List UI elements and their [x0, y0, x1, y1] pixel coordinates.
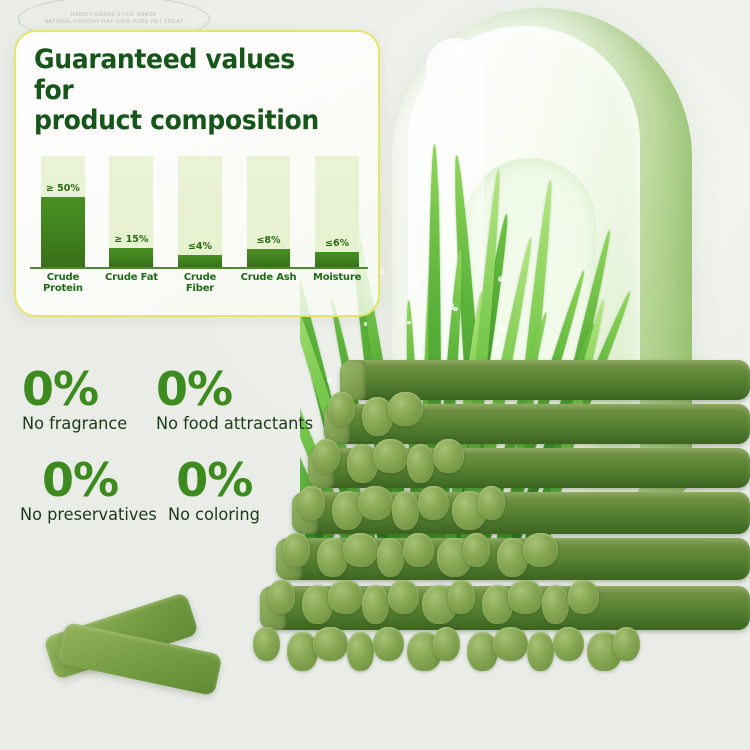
chart-axis-line — [30, 267, 368, 269]
chart-plot-area: ≥ 50%≥ 15%≤4%≤8%≤6% — [34, 154, 366, 267]
claim-label: No food attractants — [156, 415, 287, 434]
hay-stick-end — [508, 580, 543, 614]
hay-stick-end — [418, 486, 449, 520]
hay-stick-end — [613, 627, 640, 661]
chart-category-label: Crude Fiber — [171, 272, 229, 294]
product-infographic: RABBIT GRASS STICK SNACK NATURAL TIMOTHY… — [0, 0, 750, 750]
chart-column: ≥ 50% — [34, 154, 92, 267]
hay-stick-end — [523, 533, 558, 567]
hay-stick-end — [328, 392, 355, 426]
chart-bar-value: ≥ 15% — [109, 234, 153, 245]
chart-category-label: Crude Protein — [34, 272, 92, 294]
card-title-line-1: Guaranteed values for — [34, 45, 337, 106]
chart-bar-value: ≤4% — [178, 241, 222, 252]
hay-stick-end — [343, 533, 378, 567]
watermark-line-1: RABBIT GRASS STICK SNACK — [71, 12, 157, 20]
claim-value: 0% — [22, 368, 156, 412]
card-title-line-2: product composition — [34, 106, 337, 137]
claim-no-fragrance: 0% No fragrance — [22, 368, 156, 433]
watermark-line-2: NATURAL TIMOTHY HAY 100% PURE PET TREAT — [45, 19, 184, 27]
chart-column: ≤4% — [171, 154, 229, 267]
composition-bar-chart: ≥ 50%≥ 15%≤4%≤8%≤6% Crude ProteinCrude F… — [30, 154, 368, 306]
claim-value: 0% — [156, 368, 294, 412]
hay-stick-end — [358, 486, 393, 520]
claims-row-2: 0% No preservatives 0% No coloring — [22, 459, 294, 524]
claim-no-food-attractants: 0% No food attractants — [156, 368, 294, 433]
chart-category-label: Crude Fat — [103, 272, 161, 294]
chart-bar: ≤8% — [247, 249, 291, 267]
hay-stick-end — [403, 533, 434, 567]
claim-no-coloring: 0% No coloring — [168, 459, 294, 524]
card-title: Guaranteed values for product compositio… — [34, 45, 337, 137]
hay-stick-end — [313, 627, 348, 661]
chart-bar: ≤4% — [178, 255, 222, 267]
chart-bar-value: ≤8% — [247, 235, 291, 246]
claim-label: No fragrance — [22, 415, 149, 434]
hay-stick-end — [568, 580, 599, 614]
water-droplet — [498, 276, 504, 282]
chart-category-label: Moisture — [308, 272, 366, 294]
hay-stick-end — [478, 486, 505, 520]
hay-stick-end — [448, 580, 475, 614]
hay-stick-end — [388, 392, 423, 426]
chart-bar: ≥ 50% — [41, 197, 85, 267]
chart-category-label: Crude Ash — [240, 272, 298, 294]
hay-stick-end — [377, 538, 404, 577]
composition-card: Guaranteed values for product compositio… — [14, 30, 380, 317]
claim-value: 0% — [176, 459, 294, 503]
hay-stick-end — [433, 439, 464, 473]
hay-stick-stack — [236, 352, 750, 750]
hay-stick-end — [347, 632, 374, 671]
water-droplet — [500, 326, 507, 333]
water-droplet — [493, 339, 499, 345]
hay-stick-end — [373, 627, 404, 661]
water-droplet — [413, 279, 421, 287]
chart-bar: ≥ 15% — [109, 248, 153, 267]
hay-stick-end — [527, 632, 554, 671]
hay-stick-end — [407, 444, 434, 483]
hay-stick-end — [268, 580, 295, 614]
claim-no-preservatives: 0% No preservatives — [22, 459, 168, 524]
hay-stick-end — [253, 627, 280, 661]
chart-bar-value: ≥ 50% — [41, 183, 85, 194]
hay-stick-end — [392, 491, 419, 530]
hay-stick-end — [463, 533, 490, 567]
chart-bar-track — [315, 156, 359, 267]
hay-stick-end — [553, 627, 584, 661]
chart-column: ≤6% — [308, 154, 366, 267]
hay-stick-end — [433, 627, 460, 661]
zero-claims-block: 0% No fragrance 0% No food attractants 0… — [22, 368, 294, 525]
hay-stick-end — [542, 585, 569, 624]
hay-stick-end — [388, 580, 419, 614]
claims-row-1: 0% No fragrance 0% No food attractants — [22, 368, 294, 433]
water-droplet — [453, 307, 457, 311]
claim-label: No preservatives — [20, 506, 161, 525]
hay-stick-end — [298, 486, 325, 520]
chart-bar: ≤6% — [315, 252, 359, 267]
chart-column: ≥ 15% — [103, 154, 161, 267]
claim-label: No coloring — [168, 506, 287, 525]
hay-stick-end — [328, 580, 363, 614]
hay-stick-end — [283, 533, 310, 567]
chart-x-labels: Crude ProteinCrude FatCrude FiberCrude A… — [34, 272, 366, 294]
hay-stick-end — [313, 439, 340, 473]
hay-stick-end — [373, 439, 408, 473]
chart-column: ≤8% — [240, 154, 298, 267]
claim-value: 0% — [42, 459, 168, 503]
chart-bar-value: ≤6% — [315, 238, 359, 249]
hay-stick-end — [493, 627, 528, 661]
water-droplet — [364, 322, 368, 326]
hay-stick-end — [362, 585, 389, 624]
